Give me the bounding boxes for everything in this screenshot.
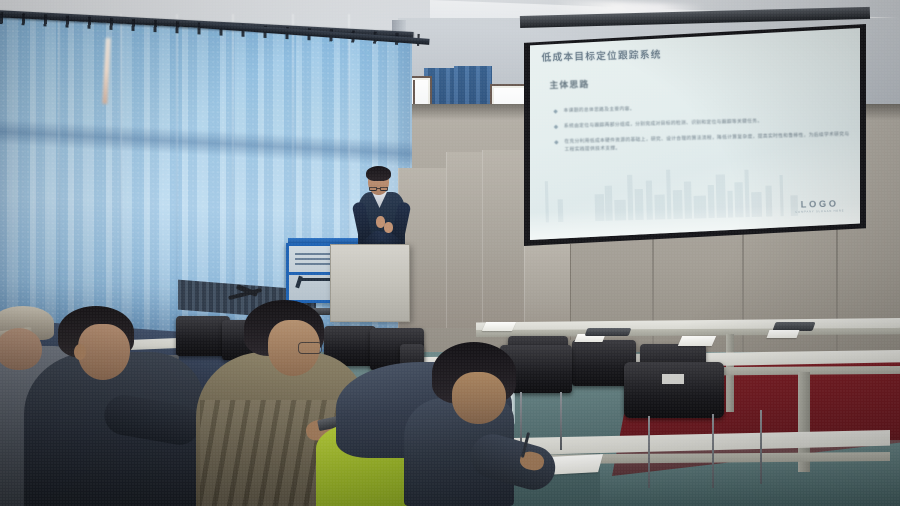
slide-logo-text: LOGO xyxy=(795,198,844,210)
attendee-olive-jacket-glasses xyxy=(298,342,322,354)
curtain-fold xyxy=(120,14,122,344)
chair-leg xyxy=(760,410,762,484)
slide-logo: LOGO COMPANY SLOGAN HERE xyxy=(795,198,844,214)
chair-leg xyxy=(648,416,650,488)
chair-leg xyxy=(560,392,562,450)
presenter-right-hand xyxy=(384,222,393,233)
classroom-presentation-photo: 低成本目标定位跟踪系统 主体思路 本课题的总体思路及主要内容。 系统由定位与跟踪… xyxy=(0,0,900,506)
grey-partition-panel xyxy=(482,150,527,330)
slide-title: 低成本目标定位跟踪系统 xyxy=(541,46,661,64)
slide-bullet: 本课题的总体思路及主要内容。 xyxy=(553,99,850,115)
slide-bullet-list: 本课题的总体思路及主要内容。 系统由定位与跟踪两部分组成，分别完成对目标的检测、… xyxy=(553,99,851,161)
desk-device[interactable] xyxy=(585,328,632,336)
glasses-icon xyxy=(369,187,388,191)
black-stacking-chair[interactable] xyxy=(624,362,724,418)
presenter-glasses xyxy=(369,178,388,182)
paper-sheet xyxy=(767,330,800,338)
slide-bullet: 系统由定位与跟踪两部分组成，分别完成对目标的检测、识别和定位与跟踪等关键任务。 xyxy=(554,115,851,131)
slide-bullet: 在充分利用低成本硬件资源的基础上，研究、设计合理的算法流程，降低计算复杂度，提高… xyxy=(554,130,851,154)
attendee-dark-jacket-ear xyxy=(74,344,86,360)
chair-leg xyxy=(712,414,714,488)
curtain-fold xyxy=(58,14,60,344)
attendee-grey-cap-head xyxy=(0,328,42,370)
paper-sheet xyxy=(678,336,716,346)
grey-partition-panel xyxy=(446,152,485,328)
paper-sheet xyxy=(482,322,516,331)
grey-partition-panel xyxy=(330,244,410,322)
presentation-slide: 低成本目标定位跟踪系统 主体思路 本课题的总体思路及主要内容。 系统由定位与跟踪… xyxy=(530,28,860,240)
attendee-green-jacket-head xyxy=(452,372,506,424)
slide-subtitle: 主体思路 xyxy=(549,78,589,91)
chair-label-tag xyxy=(662,374,684,384)
projection-screen-surface[interactable]: 低成本目标定位跟踪系统 主体思路 本课题的总体思路及主要内容。 系统由定位与跟踪… xyxy=(530,28,860,240)
